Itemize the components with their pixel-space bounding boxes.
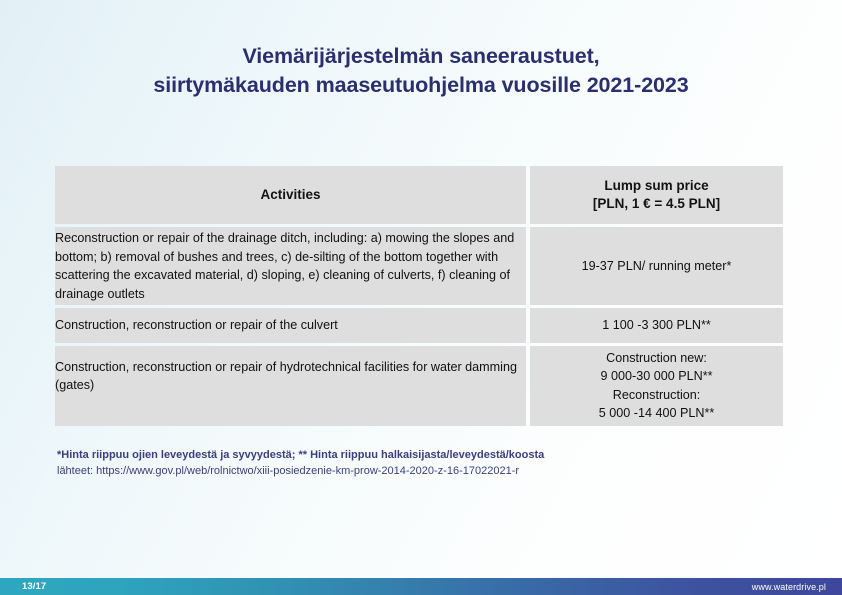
row-price-2-line-3: 5 000 -14 400 PLN**: [530, 404, 783, 423]
row-price-2-line-0: Construction new:: [530, 349, 783, 368]
row-price-0-line-0: 19-37 PLN/ running meter*: [530, 257, 783, 276]
source-link[interactable]: lähteet: https://www.gov.pl/web/rolnictw…: [57, 464, 757, 480]
table-header-row: Activities Lump sum price [PLN, 1 € = 4.…: [55, 166, 783, 224]
column-header-price-line-2: [PLN, 1 € = 4.5 PLN]: [530, 195, 783, 213]
pricing-table: Activities Lump sum price [PLN, 1 € = 4.…: [51, 163, 787, 429]
row-price-2-line-2: Reconstruction:: [530, 386, 783, 405]
table-row: Construction, reconstruction or repair o…: [55, 308, 783, 343]
row-price-2: Construction new: 9 000-30 000 PLN** Rec…: [530, 346, 783, 426]
table-row: Reconstruction or repair of the drainage…: [55, 227, 783, 305]
footnotes: *Hinta riippuu ojien leveydestä ja syvyy…: [57, 448, 757, 479]
row-price-2-line-1: 9 000-30 000 PLN**: [530, 367, 783, 386]
pricing-table-container: Activities Lump sum price [PLN, 1 € = 4.…: [55, 166, 787, 426]
page-title-line-1: Viemärijärjestelmän saneeraustuet,: [0, 42, 842, 71]
page-number: 13/17: [0, 581, 46, 592]
column-header-price: Lump sum price [PLN, 1 € = 4.5 PLN]: [530, 166, 783, 224]
footer-website-link[interactable]: www.waterdrive.pl: [752, 582, 842, 592]
slide-footer: 13/17 www.waterdrive.pl: [0, 578, 842, 595]
row-activity-2: Construction, reconstruction or repair o…: [55, 346, 526, 426]
row-activity-0: Reconstruction or repair of the drainage…: [55, 227, 526, 305]
footnote-text: *Hinta riippuu ojien leveydestä ja syvyy…: [57, 448, 757, 464]
page-title: Viemärijärjestelmän saneeraustuet, siirt…: [0, 42, 842, 100]
table-row: Construction, reconstruction or repair o…: [55, 346, 783, 426]
row-activity-1: Construction, reconstruction or repair o…: [55, 308, 526, 343]
row-price-0: 19-37 PLN/ running meter*: [530, 227, 783, 305]
column-header-price-line-1: Lump sum price: [530, 177, 783, 195]
page-title-line-2: siirtymäkauden maaseutuohjelma vuosille …: [0, 71, 842, 100]
row-price-1: 1 100 -3 300 PLN**: [530, 308, 783, 343]
column-header-activities: Activities: [55, 166, 526, 224]
slide: Viemärijärjestelmän saneeraustuet, siirt…: [0, 0, 842, 595]
row-price-1-line-0: 1 100 -3 300 PLN**: [530, 316, 783, 335]
